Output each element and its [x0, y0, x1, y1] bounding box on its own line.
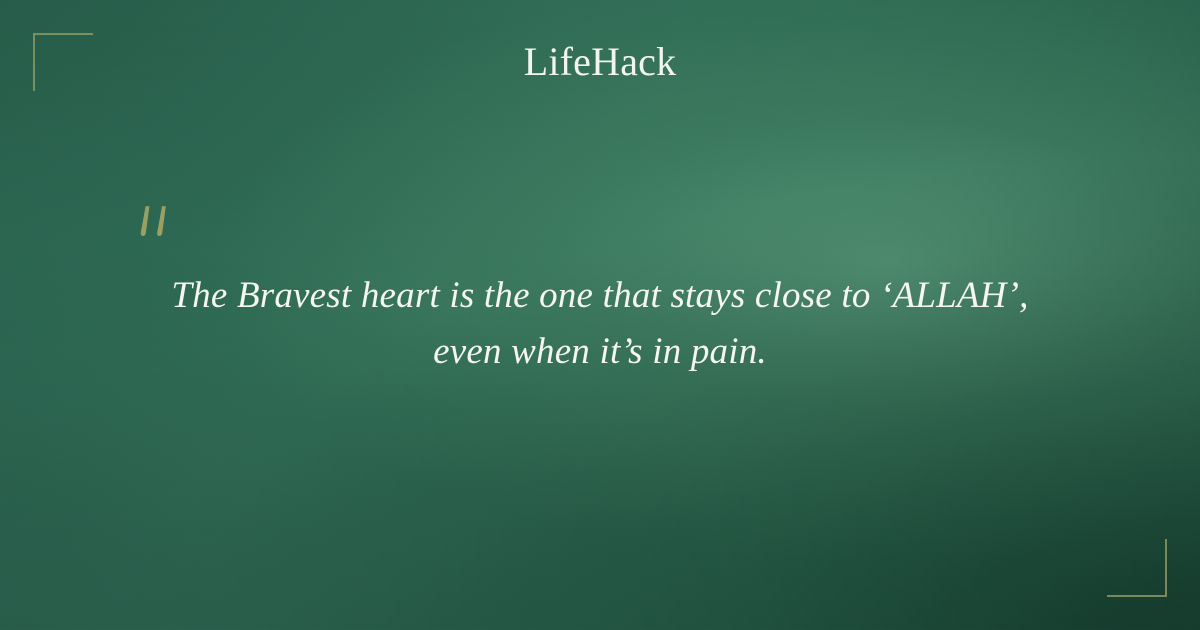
double-quote-mark-icon: [136, 205, 180, 241]
quote-block: The Bravest heart is the one that stays …: [100, 268, 1100, 380]
quote-text: The Bravest heart is the one that stays …: [100, 268, 1100, 380]
corner-bracket-bottom-right-icon: [1107, 539, 1167, 597]
quote-card: LifeHack The Bravest heart is the one th…: [0, 0, 1200, 630]
brand-logo: LifeHack: [0, 40, 1200, 84]
